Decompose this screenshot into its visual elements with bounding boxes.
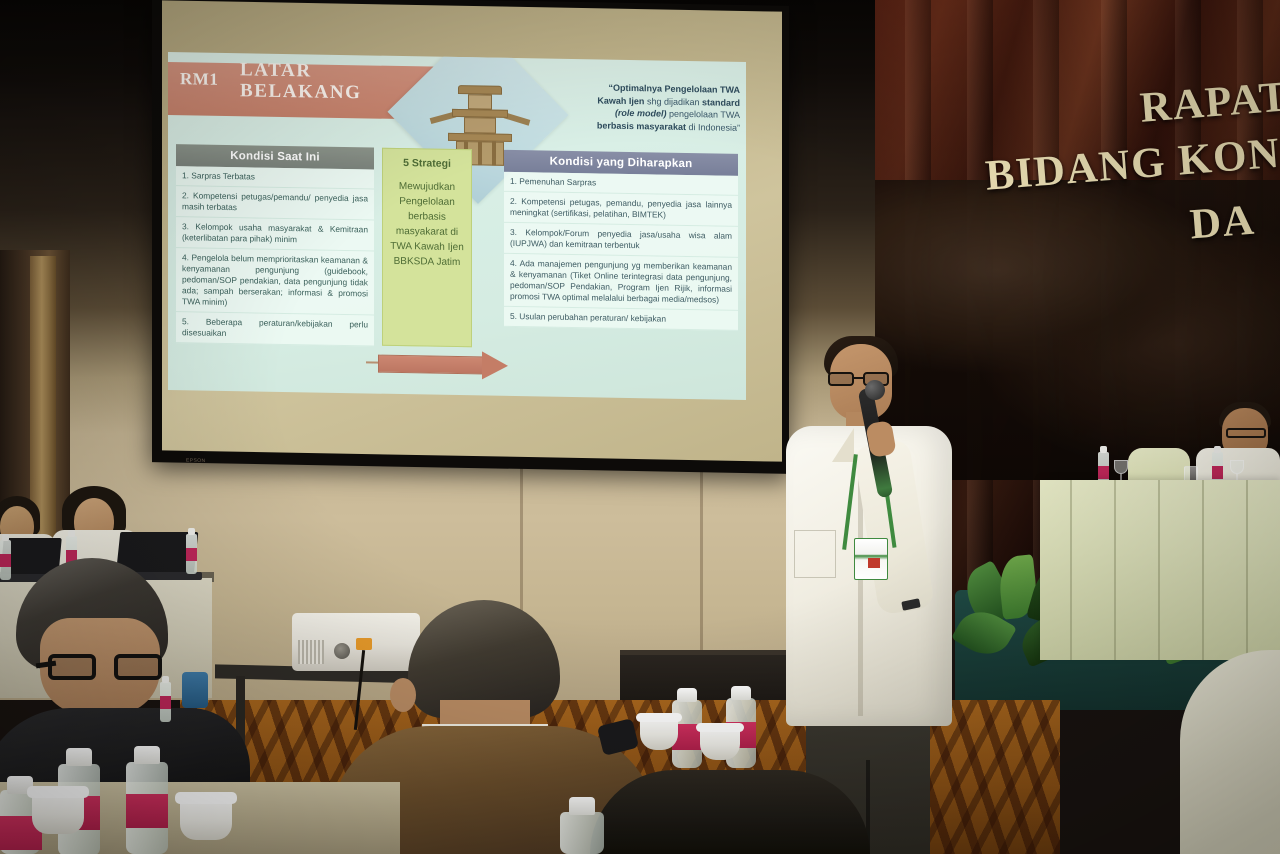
transition-arrow-icon	[378, 350, 512, 380]
paper-cup	[640, 716, 678, 750]
quote-line-1: “Optimalnya Pengelolaan TWA	[608, 83, 740, 95]
column-strategy: 5 Strategi Mewujudkan Pengelolaan berbas…	[382, 148, 472, 348]
id-badge-photo	[868, 558, 880, 568]
column-expected-condition: Kondisi yang Diharapkan 1. Pemenuhan Sar…	[504, 150, 738, 331]
left-item-4: 4. Pengelola belum memprioritaskan keama…	[176, 248, 374, 315]
screen-brand-label: EPSON	[186, 458, 222, 466]
paper-cup	[700, 726, 740, 760]
quote-line-2b: shg dijadikan	[644, 96, 702, 107]
banner-line-3: DA	[1188, 196, 1257, 250]
strategy-title: 5 Strategi	[387, 157, 467, 170]
left-item-5: 5. Beberapa peraturan/kebijakan perlu di…	[176, 312, 374, 346]
quote-line-4a: berbasis masyarakat	[597, 120, 686, 132]
presentation-slide: RM1 LATAR BELAKANG “Optimalnya Pengelola…	[168, 52, 746, 400]
water-bottle	[126, 762, 168, 854]
speaker-collar	[832, 428, 854, 462]
right-item-3: 3. Kelompok/Forum penyedia jasa/usaha wi…	[504, 223, 738, 258]
speaker-glasses-icon	[828, 372, 894, 386]
blue-tumbler	[182, 672, 208, 708]
right-item-5: 5. Usulan perubahan peraturan/ kebijakan	[504, 307, 738, 331]
slide-title-line-1: LATAR	[240, 59, 312, 81]
strategy-box: 5 Strategi Mewujudkan Pengelolaan berbas…	[382, 148, 472, 348]
left-item-3: 3. Kelompok usaha masyarakat & Kemitraan…	[176, 217, 374, 251]
column-current-condition: Kondisi Saat Ini 1. Sarpras Terbatas 2. …	[176, 144, 374, 346]
head-table	[1040, 480, 1280, 660]
strategy-body: Mewujudkan Pengelolaan berbasis masyakar…	[387, 179, 467, 270]
quote-line-2a: Kawah Ijen	[597, 95, 644, 106]
right-item-2: 2. Kompetensi petugas, pemandu, penyedia…	[504, 192, 738, 227]
slide-title-line-2: BELAKANG	[240, 80, 362, 103]
left-item-2: 2. Kompetensi petugas/pemandu/ penyedia …	[176, 186, 374, 220]
slide-title: LATAR BELAKANG	[240, 59, 362, 103]
quote-line-4b: di Indonesia”	[686, 122, 740, 133]
quote-line-3b: pengelolaan TWA	[666, 109, 740, 120]
slide-quote: “Optimalnya Pengelolaan TWA Kawah Ijen s…	[528, 80, 740, 134]
slide-rm-label: RM1	[180, 69, 218, 90]
right-item-4: 4. Ada manajemen pengunjung yg memberika…	[504, 254, 738, 311]
foreground-round-table	[590, 770, 870, 854]
quote-line-2c: standard	[702, 97, 740, 108]
water-bottle	[160, 682, 171, 722]
panelist-glasses-icon	[1226, 428, 1266, 438]
paper-cup	[32, 790, 84, 834]
speaker-shirt-pocket	[794, 530, 836, 578]
projector-vent	[298, 640, 324, 664]
water-bottle	[560, 812, 604, 854]
paper-cup	[180, 796, 232, 840]
quote-line-3a: (role model)	[615, 108, 667, 119]
conference-room-scene: RAPAT BIDANG KONSE DA EPSON RM1 LATAR BE…	[0, 0, 1280, 854]
